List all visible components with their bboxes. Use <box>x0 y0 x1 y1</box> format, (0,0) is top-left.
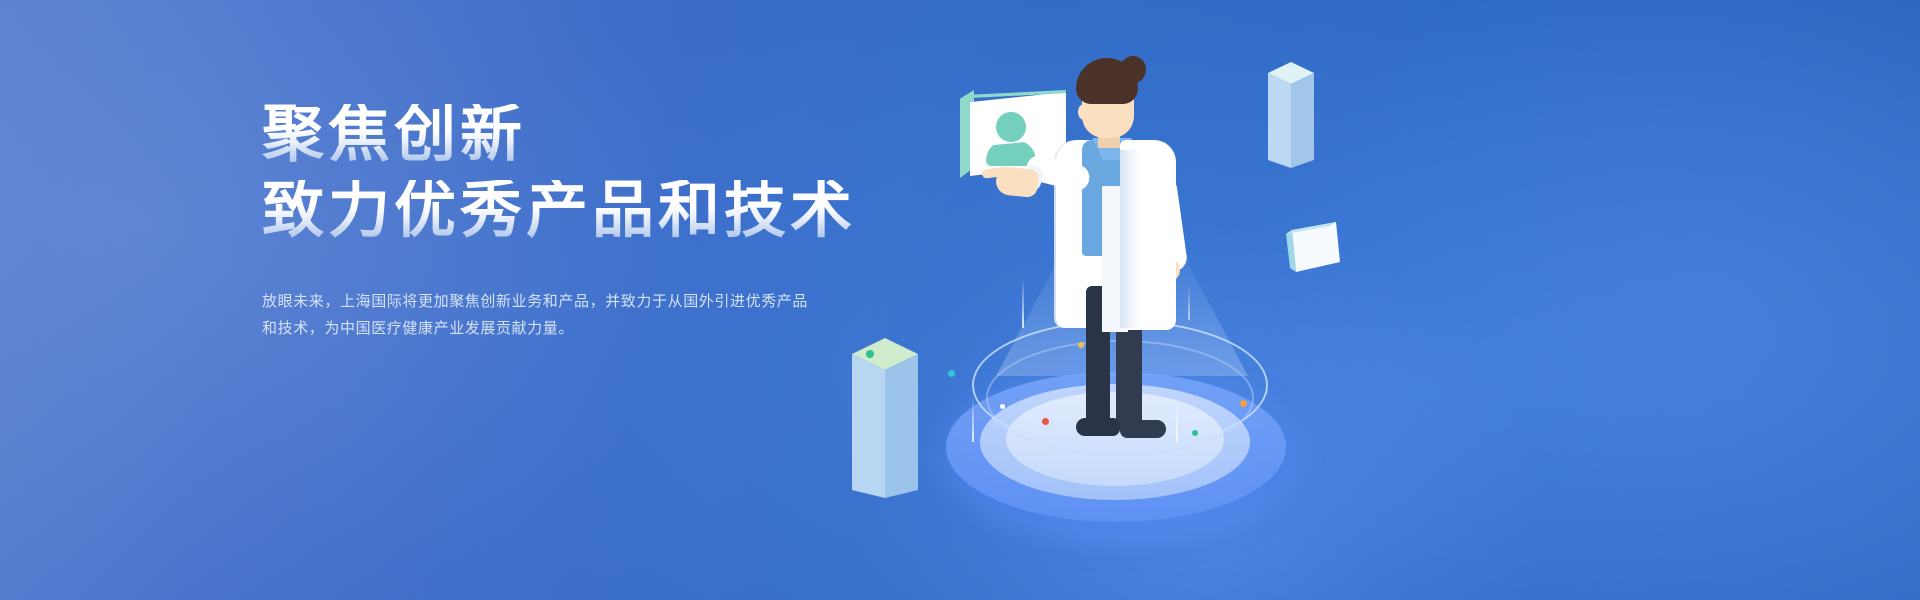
light-streak-3 <box>1176 402 1178 442</box>
light-streak-4 <box>1188 286 1190 320</box>
doctor-left-shoe <box>1076 418 1120 436</box>
dot-yellow-top <box>1078 342 1084 348</box>
doctor-right-shoe <box>1120 420 1166 438</box>
subtitle-line-1: 放眼未来，上海国际将更加聚焦创新业务和产品，并致力于从国外引进优秀产品 <box>262 288 862 315</box>
banner-subtitle: 放眼未来，上海国际将更加聚焦创新业务和产品，并致力于从国外引进优秀产品 和技术，… <box>262 288 862 342</box>
banner-copy: 聚焦创新 致力优秀产品和技术 放眼未来，上海国际将更加聚焦创新业务和产品，并致力… <box>262 104 902 342</box>
light-streak-2 <box>972 396 974 442</box>
tall-pillar-shape <box>1268 62 1314 168</box>
headline-line-1: 聚焦创新 <box>262 104 902 166</box>
short-pillar-shape <box>852 338 918 498</box>
headline-line-2: 致力优秀产品和技术 <box>262 180 902 242</box>
hero-illustration <box>820 0 1420 600</box>
square-mid-right-shape <box>1286 222 1340 272</box>
square-mid-right <box>1286 222 1340 272</box>
short-pillar-left <box>852 338 918 498</box>
dot-green-far <box>1192 430 1198 436</box>
dot-red-bottom <box>1042 418 1049 425</box>
dot-teal-left <box>948 370 955 377</box>
dot-orange-right <box>1240 400 1247 407</box>
dot-green-left <box>866 350 874 358</box>
lab-coat-shadow <box>1120 150 1140 328</box>
tall-pillar-right <box>1268 62 1314 168</box>
user-avatar-icon <box>996 112 1026 142</box>
light-streak-1 <box>1022 278 1024 328</box>
dot-white-mid <box>1000 404 1005 409</box>
promo-banner: 聚焦创新 致力优秀产品和技术 放眼未来，上海国际将更加聚焦创新业务和产品，并致力… <box>0 0 1920 600</box>
subtitle-line-2: 和技术，为中国医疗健康产业发展贡献力量。 <box>262 315 862 342</box>
